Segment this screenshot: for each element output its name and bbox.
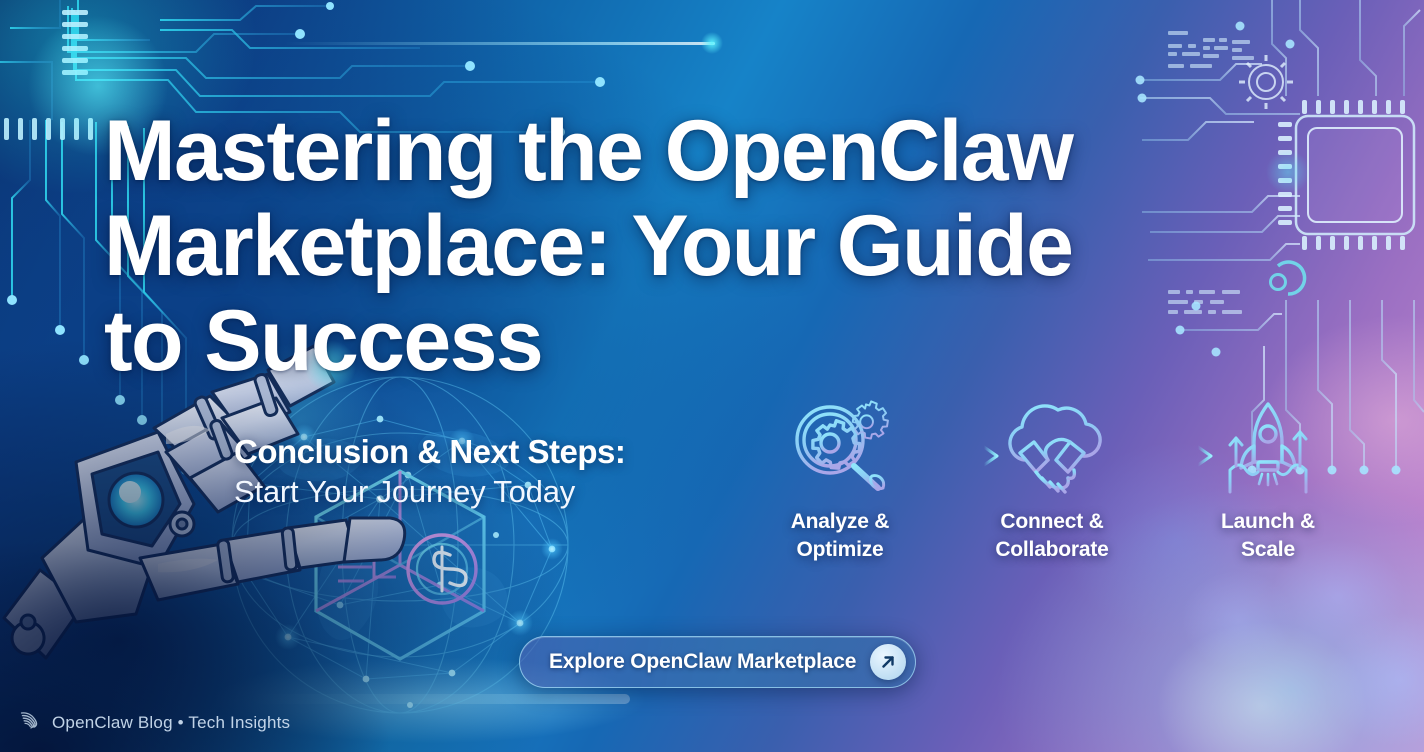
subtitle-regular: Start Your Journey Today: [234, 472, 714, 512]
footer-branding: OpenClaw Blog • Tech Insights: [18, 708, 290, 737]
title-line-2: Marketplace: Your Guide: [104, 198, 1072, 294]
step-label-line-1: Launch &: [1221, 510, 1315, 533]
step-launch-scale: Launch & Scale: [1188, 396, 1348, 564]
process-steps: Analyze & Optimize Connect & Collaborate: [760, 396, 1360, 588]
step-label-line-2: Collaborate: [995, 538, 1108, 561]
openclaw-claw-logo: [18, 708, 42, 737]
magnifier-gear-icon: [760, 396, 920, 500]
subtitle-block: Conclusion & Next Steps: Start Your Jour…: [234, 432, 714, 512]
step-label-analyze: Analyze & Optimize: [760, 508, 920, 564]
arrow-up-right-icon[interactable]: [870, 644, 906, 680]
cta-label: Explore OpenClaw Marketplace: [549, 650, 856, 674]
step-label-connect: Connect & Collaborate: [972, 508, 1132, 564]
page-title: Mastering the OpenClaw Marketplace: Your…: [104, 104, 1214, 389]
explore-marketplace-button[interactable]: Explore OpenClaw Marketplace: [519, 636, 916, 688]
title-line-1: Mastering the OpenClaw: [104, 103, 1072, 199]
subtitle-bold: Conclusion & Next Steps:: [234, 432, 714, 472]
step-label-launch: Launch & Scale: [1188, 508, 1348, 564]
step-label-line-1: Analyze &: [791, 510, 890, 533]
footer-text: OpenClaw Blog • Tech Insights: [52, 713, 290, 733]
blog-hero-banner: Mastering the OpenClaw Marketplace: Your…: [0, 0, 1424, 752]
arrow-right-icon: [918, 444, 1004, 468]
step-label-line-2: Scale: [1241, 538, 1295, 561]
step-label-line-1: Connect &: [1000, 510, 1103, 533]
title-line-3: to Success: [104, 293, 542, 389]
step-analyze-optimize: Analyze & Optimize: [760, 396, 920, 564]
arrow-right-icon: [1132, 444, 1218, 468]
step-label-line-2: Optimize: [796, 538, 883, 561]
step-connect-collaborate: Connect & Collaborate: [972, 396, 1132, 564]
